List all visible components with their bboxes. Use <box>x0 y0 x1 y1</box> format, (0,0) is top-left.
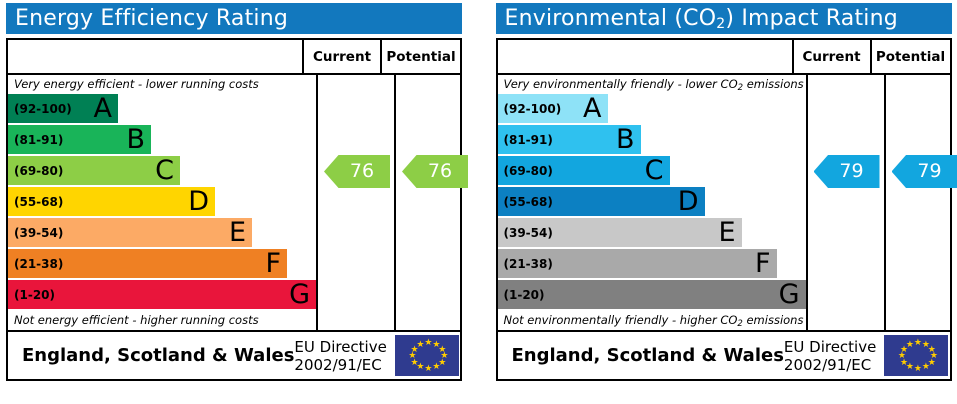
footer-region-label: England, Scotland & Wales <box>498 345 784 366</box>
band-range-G: (1-20) <box>14 289 55 301</box>
band-range-C: (69-80) <box>14 165 63 177</box>
band-range-B: (81-91) <box>14 134 63 146</box>
rating-band-D: (55-68)D <box>498 187 705 216</box>
column-header-potential: Potential <box>382 40 460 73</box>
caption-text-after: emissions <box>743 77 804 91</box>
rating-arrow-potential: 76 <box>402 155 468 188</box>
rating-value-potential: 76 <box>428 162 452 181</box>
column-header-current: Current <box>304 40 382 73</box>
chart-title-energy-efficiency: Energy Efficiency Rating <box>6 3 462 34</box>
rating-arrow-current: 76 <box>324 155 390 188</box>
band-letter-F: F <box>755 249 771 276</box>
rating-band-D: (55-68)D <box>8 187 215 216</box>
footer-directive: EU Directive2002/91/EC <box>294 338 393 374</box>
band-range-E: (39-54) <box>14 227 63 239</box>
rating-value-current: 76 <box>350 162 374 181</box>
rating-table-co2-impact: CurrentPotentialVery environmentally fri… <box>496 38 952 381</box>
band-range-E: (39-54) <box>504 227 553 239</box>
rating-band-A: (92-100)A <box>498 94 608 123</box>
rating-column-potential: 79 <box>886 75 957 330</box>
caption-text: Not environmentally friendly - higher CO <box>504 313 738 327</box>
epc-charts-page: Energy Efficiency RatingCurrentPotential… <box>0 0 957 404</box>
rating-band-F: (21-38)F <box>8 249 287 278</box>
caption-text: Very environmentally friendly - lower CO <box>504 77 738 91</box>
band-letter-B: B <box>616 125 635 152</box>
band-letter-C: C <box>645 156 664 183</box>
band-letter-D: D <box>678 187 699 214</box>
table-footer-row: England, Scotland & WalesEU Directive200… <box>498 332 950 379</box>
band-letter-A: A <box>583 94 601 121</box>
caption-text-after: emissions <box>743 313 804 327</box>
scale-caption-top: Very environmentally friendly - lower CO… <box>498 75 806 94</box>
rating-band-G: (1-20)G <box>8 280 316 309</box>
band-scale: Very energy efficient - lower running co… <box>8 75 318 330</box>
chart-title-text-after: ) Impact Rating <box>725 6 898 31</box>
rating-band-G: (1-20)G <box>498 280 806 309</box>
band-range-F: (21-38) <box>504 258 553 270</box>
table-body-row: Very environmentally friendly - lower CO… <box>498 75 950 332</box>
caption-text: Not energy efficient - higher running co… <box>14 313 259 327</box>
rating-band-A: (92-100)A <box>8 94 118 123</box>
rating-band-B: (81-91)B <box>8 125 151 154</box>
scale-caption-top: Very energy efficient - lower running co… <box>8 75 316 94</box>
eu-star: ★ <box>432 364 439 371</box>
band-range-C: (69-80) <box>504 165 553 177</box>
rating-column-current: 79 <box>808 75 886 330</box>
eu-flag-icon: ★★★★★★★★★★★★ <box>883 334 949 377</box>
band-range-D: (55-68) <box>14 196 63 208</box>
rating-value-current: 79 <box>839 162 863 181</box>
eu-star: ★ <box>922 364 929 371</box>
epc-chart-energy-efficiency: Energy Efficiency RatingCurrentPotential… <box>0 0 468 404</box>
band-range-D: (55-68) <box>504 196 553 208</box>
footer-directive-line1: EU Directive <box>294 338 386 356</box>
rating-band-E: (39-54)E <box>8 218 252 247</box>
band-range-F: (21-38) <box>14 258 63 270</box>
scale-caption-bottom: Not energy efficient - higher running co… <box>8 311 316 330</box>
band-range-A: (92-100) <box>504 103 562 115</box>
band-letter-A: A <box>94 94 112 121</box>
scale-caption-bottom: Not environmentally friendly - higher CO… <box>498 311 806 330</box>
rating-value-potential: 79 <box>917 162 941 181</box>
caption-subscript: 2 <box>738 83 743 93</box>
footer-directive-line1: EU Directive <box>784 338 876 356</box>
table-header-row: CurrentPotential <box>8 40 460 75</box>
rating-band-C: (69-80)C <box>8 156 180 185</box>
footer-directive-line2: 2002/91/EC <box>784 356 876 374</box>
eu-star: ★ <box>424 340 431 347</box>
band-letter-E: E <box>718 218 735 245</box>
header-spacer-cell <box>498 40 794 73</box>
band-range-G: (1-20) <box>504 289 545 301</box>
caption-text: Very energy efficient - lower running co… <box>14 77 259 91</box>
chart-title-text: Environmental (CO <box>505 6 717 31</box>
table-footer-row: England, Scotland & WalesEU Directive200… <box>8 332 460 379</box>
footer-directive: EU Directive2002/91/EC <box>784 338 883 374</box>
column-header-potential: Potential <box>872 40 950 73</box>
epc-chart-co2-impact: Environmental (CO2) Impact RatingCurrent… <box>490 0 957 404</box>
eu-star: ★ <box>914 340 921 347</box>
band-scale: Very environmentally friendly - lower CO… <box>498 75 808 330</box>
chart-title-subscript: 2 <box>716 16 725 32</box>
chart-title-co2-impact: Environmental (CO2) Impact Rating <box>496 3 952 34</box>
band-letter-E: E <box>229 218 246 245</box>
table-body-row: Very energy efficient - lower running co… <box>8 75 460 332</box>
band-letter-B: B <box>126 125 145 152</box>
rating-band-E: (39-54)E <box>498 218 742 247</box>
eu-star: ★ <box>906 342 913 349</box>
eu-star: ★ <box>914 366 921 373</box>
band-range-A: (92-100) <box>14 103 72 115</box>
band-letter-C: C <box>155 156 174 183</box>
eu-star: ★ <box>416 342 423 349</box>
footer-region-label: England, Scotland & Wales <box>8 345 294 366</box>
band-letter-F: F <box>265 249 281 276</box>
header-spacer-cell <box>8 40 304 73</box>
caption-subscript: 2 <box>737 319 742 329</box>
band-letter-G: G <box>779 280 800 307</box>
rating-column-potential: 76 <box>396 75 474 330</box>
band-letter-G: G <box>289 280 310 307</box>
chart-title-text: Energy Efficiency Rating <box>15 6 288 31</box>
footer-directive-line2: 2002/91/EC <box>294 356 386 374</box>
table-header-row: CurrentPotential <box>498 40 950 75</box>
band-range-B: (81-91) <box>504 134 553 146</box>
band-letter-D: D <box>188 187 209 214</box>
rating-table-energy-efficiency: CurrentPotentialVery energy efficient - … <box>6 38 462 381</box>
eu-flag-icon: ★★★★★★★★★★★★ <box>394 334 460 377</box>
rating-band-B: (81-91)B <box>498 125 641 154</box>
eu-star: ★ <box>424 366 431 373</box>
rating-band-C: (69-80)C <box>498 156 670 185</box>
rating-band-F: (21-38)F <box>498 249 777 278</box>
rating-column-current: 76 <box>318 75 396 330</box>
rating-arrow-current: 79 <box>814 155 880 188</box>
rating-arrow-potential: 79 <box>892 155 957 188</box>
column-header-current: Current <box>794 40 872 73</box>
